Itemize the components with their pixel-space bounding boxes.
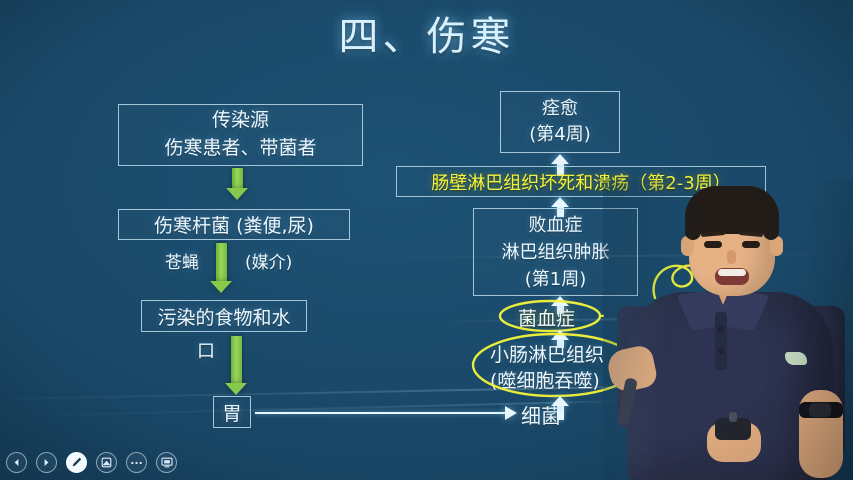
contaminated-food-box: 污染的食物和水 — [141, 300, 307, 332]
intestinal-lymph-line2: (噬细胞吞噬) — [490, 366, 600, 393]
stomach-to-bacteria-arrow-line — [255, 412, 507, 414]
vector-medium-label: (媒介) — [245, 248, 292, 273]
infection-source-line2: 伤寒患者、带菌者 — [164, 135, 316, 163]
recovery-line2: (第4周) — [529, 122, 591, 148]
septicemia-line1: 败血症 — [529, 212, 583, 239]
player-toolbar — [6, 452, 177, 473]
white-arrow-bacteria-to-lymph — [551, 396, 569, 420]
typhoid-bacillus-box: 伤寒杆菌 (粪便,尿) — [118, 209, 350, 240]
eraser-icon — [101, 457, 112, 468]
contaminated-food-text: 污染的食物和水 — [157, 303, 290, 330]
green-arrow-source-to-bacteria — [226, 168, 248, 200]
green-arrow-food-to-stomach — [225, 336, 247, 395]
slide-stage: 四、伤寒 传染源 伤寒患者、带菌者 伤寒杆菌 (粪便,尿) 苍蝇 (媒介) 污染… — [0, 0, 853, 480]
pen-annotate-button[interactable] — [66, 452, 87, 473]
typhoid-bacillus-text: 伤寒杆菌 (粪便,尿) — [154, 211, 314, 238]
recovery-line1: 痊愈 — [542, 96, 578, 122]
fly-vector-label: 苍蝇 — [165, 248, 199, 273]
recovery-box: 痊愈 (第4周) — [500, 91, 620, 153]
bacteremia-label: 菌血症 — [518, 304, 575, 331]
screen-share-button[interactable] — [156, 452, 177, 473]
previous-arrow-icon — [12, 458, 21, 467]
septicemia-line2: 淋巴组织肿胀 — [502, 239, 610, 266]
pen-icon — [70, 456, 83, 469]
ellipsis-icon — [130, 461, 143, 465]
presenter-video-overlay — [603, 180, 853, 480]
presenter-lighting-overlay — [603, 180, 853, 480]
screen-icon — [161, 457, 173, 468]
slide-title: 四、伤寒 — [0, 14, 853, 60]
eraser-button[interactable] — [96, 452, 117, 473]
next-slide-button[interactable] — [36, 452, 57, 473]
stomach-text: 胃 — [222, 399, 241, 426]
more-options-button[interactable] — [126, 452, 147, 473]
infection-source-box: 传染源 伤寒患者、带菌者 — [118, 104, 363, 166]
infection-source-line1: 传染源 — [212, 107, 269, 135]
mouth-label: 口 — [197, 337, 215, 363]
previous-slide-button[interactable] — [6, 452, 27, 473]
stomach-box: 胃 — [213, 396, 251, 428]
stomach-to-bacteria-arrow-head — [505, 406, 517, 420]
intestinal-lymph-line1: 小肠淋巴组织 — [490, 340, 604, 367]
next-arrow-icon — [42, 458, 51, 467]
green-arrow-bacteria-to-food — [210, 243, 232, 293]
septicemia-line3: (第1周) — [525, 266, 587, 293]
